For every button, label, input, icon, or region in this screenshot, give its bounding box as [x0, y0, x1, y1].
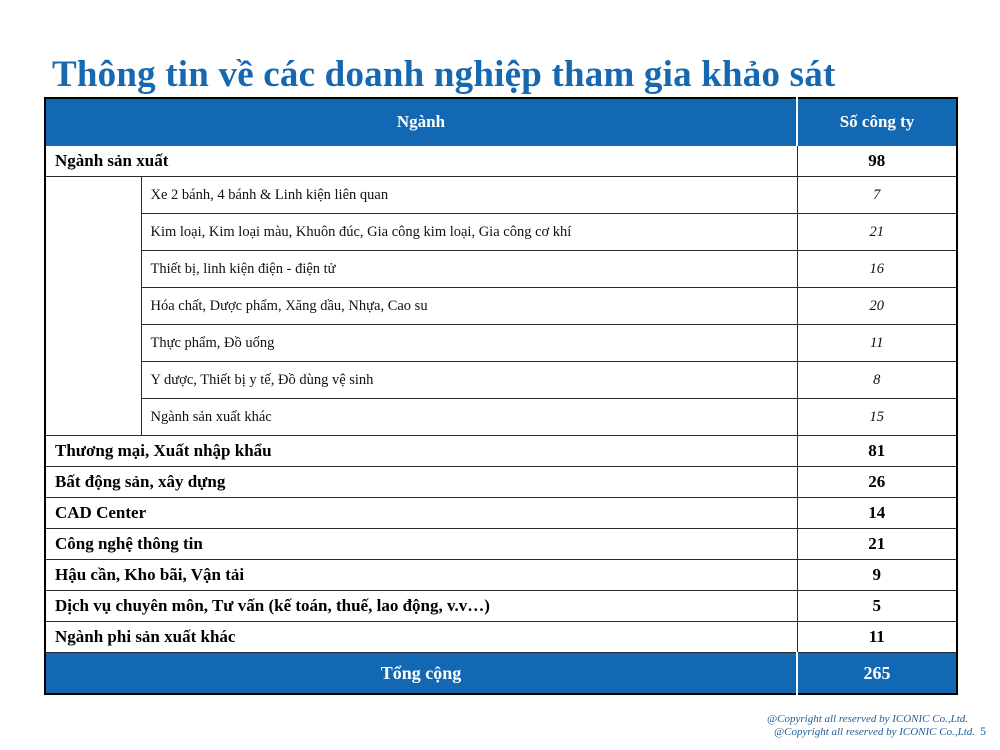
subrow-company-count: 16	[797, 251, 957, 288]
table-row: Dịch vụ chuyên môn, Tư vấn (kế toán, thu…	[45, 591, 957, 622]
table-subrow: Ngành sản xuất khác15	[45, 399, 957, 436]
row-industry-name: Công nghệ thông tin	[45, 529, 797, 560]
row-industry-name: CAD Center	[45, 498, 797, 529]
table-row: Công nghệ thông tin21	[45, 529, 957, 560]
table-subrow: Thiết bị, linh kiện điện - điện tử16	[45, 251, 957, 288]
row-industry-name: Ngành phi sản xuất khác	[45, 622, 797, 653]
page-number: 5	[975, 724, 986, 738]
table-row: Thương mại, Xuất nhập khẩu81	[45, 436, 957, 467]
subrow-company-count: 7	[797, 177, 957, 214]
copyright-line-1: @Copyright all reserved by ICONIC Co.,Lt…	[767, 713, 986, 725]
subrow-company-count: 20	[797, 288, 957, 325]
table-total-row: Tổng cộng 265	[45, 653, 957, 695]
subrow-company-count: 15	[797, 399, 957, 436]
table-row: Ngành phi sản xuất khác11	[45, 622, 957, 653]
subrow-industry-name: Thiết bị, linh kiện điện - điện tử	[141, 251, 797, 288]
subrow-industry-name: Xe 2 bánh, 4 bánh & Linh kiện liên quan	[141, 177, 797, 214]
row-company-count: 5	[797, 591, 957, 622]
table-row: Bất động sản, xây dựng26	[45, 467, 957, 498]
table-row: CAD Center14	[45, 498, 957, 529]
table-subrow: Thực phẩm, Đồ uống11	[45, 325, 957, 362]
subrow-industry-name: Hóa chất, Dược phẩm, Xăng dầu, Nhựa, Cao…	[141, 288, 797, 325]
row-company-count: 98	[797, 146, 957, 177]
subrow-company-count: 8	[797, 362, 957, 399]
row-industry-name: Thương mại, Xuất nhập khẩu	[45, 436, 797, 467]
total-count: 265	[797, 653, 957, 695]
row-company-count: 11	[797, 622, 957, 653]
column-header-company-count: Số công ty	[797, 98, 957, 146]
table-header-row: Ngành Số công ty	[45, 98, 957, 146]
column-header-industry: Ngành	[45, 98, 797, 146]
subrow-industry-name: Y dược, Thiết bị y tế, Đồ dùng vệ sinh	[141, 362, 797, 399]
footer: @Copyright all reserved by ICONIC Co.,Lt…	[767, 713, 986, 738]
page-title: Thông tin về các doanh nghiệp tham gia k…	[52, 53, 835, 97]
row-industry-name: Dịch vụ chuyên môn, Tư vấn (kế toán, thu…	[45, 591, 797, 622]
copyright-line-2: @Copyright all reserved by ICONIC Co.,Lt…	[774, 726, 975, 738]
subrow-industry-name: Thực phẩm, Đồ uống	[141, 325, 797, 362]
subrow-industry-name: Ngành sản xuất khác	[141, 399, 797, 436]
total-label: Tổng cộng	[45, 653, 797, 695]
table-subrow: Y dược, Thiết bị y tế, Đồ dùng vệ sinh8	[45, 362, 957, 399]
survey-table-container: Ngành Số công ty Ngành sản xuất98Xe 2 bá…	[44, 97, 956, 695]
table-row: Ngành sản xuất98	[45, 146, 957, 177]
row-company-count: 21	[797, 529, 957, 560]
subrow-industry-name: Kim loại, Kim loại màu, Khuôn đúc, Gia c…	[141, 214, 797, 251]
row-company-count: 81	[797, 436, 957, 467]
table-subrow: Xe 2 bánh, 4 bánh & Linh kiện liên quan7	[45, 177, 957, 214]
row-company-count: 26	[797, 467, 957, 498]
subrow-company-count: 21	[797, 214, 957, 251]
row-company-count: 9	[797, 560, 957, 591]
row-industry-name: Hậu cần, Kho bãi, Vận tải	[45, 560, 797, 591]
table-subrow: Kim loại, Kim loại màu, Khuôn đúc, Gia c…	[45, 214, 957, 251]
row-industry-name: Bất động sản, xây dựng	[45, 467, 797, 498]
table-row: Hậu cần, Kho bãi, Vận tải9	[45, 560, 957, 591]
row-industry-name: Ngành sản xuất	[45, 146, 797, 177]
subrow-company-count: 11	[797, 325, 957, 362]
subrow-indent-cell	[45, 177, 141, 436]
row-company-count: 14	[797, 498, 957, 529]
table-body: Ngành sản xuất98Xe 2 bánh, 4 bánh & Linh…	[45, 146, 957, 653]
copyright-line-2-wrapper: @Copyright all reserved by ICONIC Co.,Lt…	[767, 725, 986, 738]
table-subrow: Hóa chất, Dược phẩm, Xăng dầu, Nhựa, Cao…	[45, 288, 957, 325]
survey-table: Ngành Số công ty Ngành sản xuất98Xe 2 bá…	[44, 97, 958, 695]
